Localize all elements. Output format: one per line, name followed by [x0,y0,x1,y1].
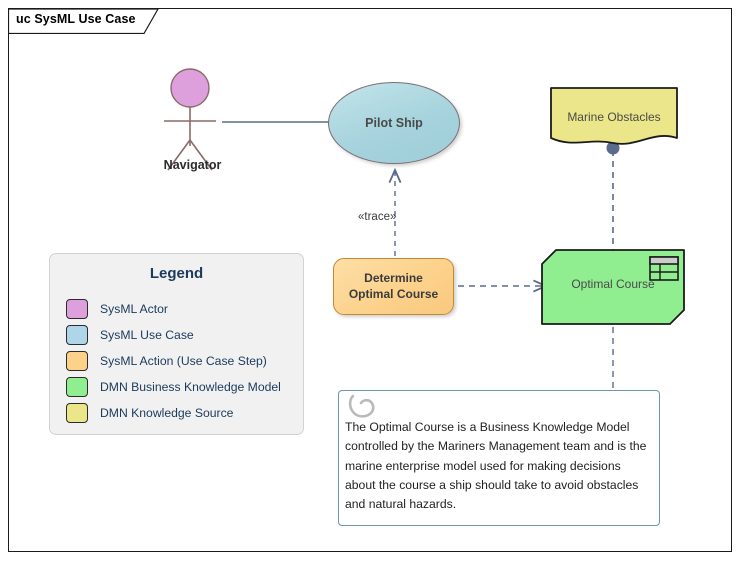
legend-item-sysml-use-case: SysML Use Case [66,322,296,348]
legend-swatch-dmn-bkm [66,377,88,397]
legend-item-dmn-bkm: DMN Business Knowledge Model [66,374,296,400]
legend-swatch-sysml-actor [66,299,88,319]
use-case-label: Pilot Ship [365,116,423,130]
diagram-canvas: uc SysML Use Case Navigator [0,0,742,565]
legend-swatch-sysml-use-case [66,325,88,345]
legend-title: Legend [49,265,304,282]
legend-label-sysml-action: SysML Action (Use Case Step) [100,354,267,368]
legend-label-sysml-use-case: SysML Use Case [100,328,194,342]
legend-label-dmn-bkm: DMN Business Knowledge Model [100,380,281,394]
legend-swatch-dmn-knowledge-source [66,403,88,423]
action-determine-optimal-course[interactable]: Determine Optimal Course [333,258,454,315]
action-label-line2: Optimal Course [349,287,438,302]
action-label-line1: Determine [364,271,423,286]
actor-label: Navigator [145,158,240,172]
bkm-label: Optimal Course [540,277,686,291]
legend-swatch-sysml-action [66,351,88,371]
trace-stereotype-label: «trace» [358,211,396,223]
note-text: The Optimal Course is a Business Knowled… [345,418,650,514]
legend-label-dmn-knowledge-source: DMN Knowledge Source [100,406,233,420]
use-case-pilot-ship[interactable]: Pilot Ship [328,82,460,164]
diagram-title: uc SysML Use Case [16,12,136,26]
legend-label-sysml-actor: SysML Actor [100,302,168,316]
knowledge-source-label: Marine Obstacles [549,110,679,124]
stick-figure-icon [171,69,209,107]
legend-item-sysml-actor: SysML Actor [66,296,296,322]
legend-item-sysml-action: SysML Action (Use Case Step) [66,348,296,374]
legend-item-dmn-knowledge-source: DMN Knowledge Source [66,400,296,426]
legend-items: SysML Actor SysML Use Case SysML Action … [66,296,296,426]
